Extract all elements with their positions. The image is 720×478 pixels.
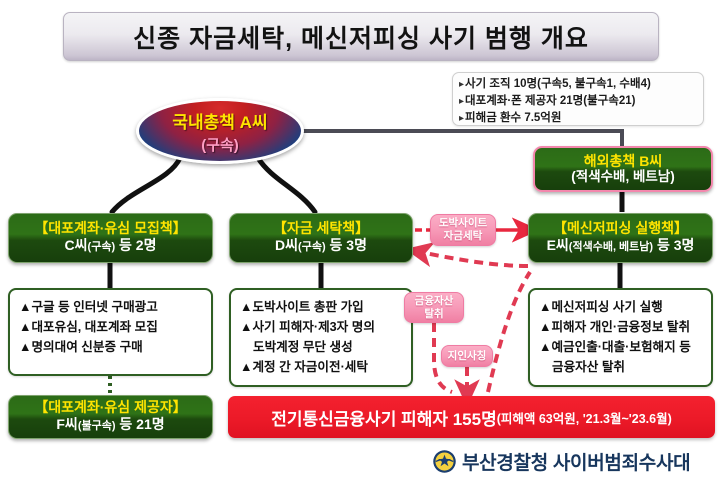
node-recruiter-c: 【대포계좌·유심 모집책】 C씨(구속) 등 2명 bbox=[8, 213, 213, 263]
detail-item-continuation: 금융자산 탈취 bbox=[539, 357, 703, 377]
node-overseas-boss-status: (적색수배, 베트남) bbox=[571, 169, 674, 185]
case-summary-box: ▸사기 조직 10명(구속5, 불구속1, 수배4) ▸대포계좌·폰 제공자 2… bbox=[452, 72, 704, 126]
node-provider-f-count: 등 21명 bbox=[116, 416, 165, 432]
victim-summary-sub: (피해액 63억원, '21.3월~'23.6월) bbox=[497, 408, 672, 427]
node-provider-f: 【대포계좌·유심 제공자】 F씨(불구속) 등 21명 bbox=[8, 395, 213, 439]
bullet-icon: ▸ bbox=[459, 79, 464, 90]
flow-label-line2: 자금세탁 bbox=[444, 230, 483, 243]
arrow-e-to-d-asset bbox=[420, 252, 528, 266]
node-launderer-d-name: D씨 bbox=[275, 237, 298, 253]
arrow-victim-curve bbox=[488, 272, 530, 392]
node-launderer-d-people: D씨(구속) 등 3명 bbox=[275, 237, 367, 256]
node-launderer-d: 【자금 세탁책】 D씨(구속) 등 3명 bbox=[229, 213, 413, 263]
node-overseas-boss-title: 해외총책 B씨 bbox=[584, 153, 662, 169]
node-overseas-boss: 해외총책 B씨 (적색수배, 베트남) bbox=[533, 146, 713, 192]
detail-item: ▲피해자 개인·금융정보 탈취 bbox=[539, 317, 703, 337]
bullet-icon: ▸ bbox=[459, 96, 464, 107]
connector-a-to-d bbox=[258, 158, 315, 212]
detail-item: ▲계정 간 자금이전·세탁 bbox=[240, 357, 403, 377]
flow-label-line1: 지인사칭 bbox=[448, 350, 487, 363]
victim-summary-main: 전기통신금융사기 피해자 155명 bbox=[271, 405, 497, 430]
node-executor-e-count: 등 3명 bbox=[653, 237, 694, 253]
node-executor-e-people: E씨(적색수배, 베트남) 등 3명 bbox=[547, 237, 695, 256]
flow-label-asset-seizure: 금융자산 탈취 bbox=[404, 292, 464, 323]
detail-item: ▲대포유심, 대포계좌 모집 bbox=[19, 317, 203, 337]
page-title-text: 신종 자금세탁, 메신저피싱 사기 범행 개요 bbox=[133, 19, 589, 55]
agency-name: 부산경찰청 사이버범죄수사대 bbox=[462, 448, 690, 475]
case-summary-text: 피해금 환수 7.5억원 bbox=[465, 112, 561, 124]
detail-item: ▲예금인출·대출·보험해지 등 bbox=[539, 337, 703, 357]
case-summary-text: 대포계좌·폰 제공자 21명(불구속21) bbox=[465, 95, 635, 107]
node-launderer-d-count: 등 3명 bbox=[326, 237, 367, 253]
node-provider-f-role: 【대포계좌·유심 제공자】 bbox=[34, 399, 186, 416]
detail-executor-e: ▲메신저피싱 사기 실행 ▲피해자 개인·금융정보 탈취 ▲예금인출·대출·보험… bbox=[528, 288, 713, 387]
case-summary-text: 사기 조직 10명(구속5, 불구속1, 수배4) bbox=[465, 78, 651, 90]
detail-item: ▲메신저피싱 사기 실행 bbox=[539, 297, 703, 317]
node-domestic-boss: 국내총책 A씨 (구속) bbox=[136, 98, 304, 164]
agency-footer: 부산경찰청 사이버범죄수사대 bbox=[432, 447, 717, 475]
flow-label-line2: 탈취 bbox=[424, 308, 443, 321]
detail-item: ▲구글 등 인터넷 구매광고 bbox=[19, 297, 203, 317]
victim-summary-bar: 전기통신금융사기 피해자 155명(피해액 63억원, '21.3월~'23.6… bbox=[228, 396, 715, 438]
detail-item: ▲명의대여 신분증 구매 bbox=[19, 337, 203, 357]
detail-recruiter-c: ▲구글 등 인터넷 구매광고 ▲대포유심, 대포계좌 모집 ▲명의대여 신분증 … bbox=[8, 288, 213, 376]
detail-item: ▲도박사이트 총판 가입 bbox=[240, 297, 403, 317]
node-launderer-d-status: (구속) bbox=[298, 241, 326, 253]
node-recruiter-c-count: 등 2명 bbox=[115, 237, 156, 253]
detail-launderer-d: ▲도박사이트 총판 가입 ▲사기 피해자·제3자 명의 도박계정 무단 생성 ▲… bbox=[229, 288, 413, 387]
connector-a-to-b bbox=[303, 131, 622, 146]
node-executor-e-name: E씨 bbox=[547, 237, 569, 253]
detail-item: ▲사기 피해자·제3자 명의 bbox=[240, 317, 403, 337]
flow-label-line1: 도박사이트 bbox=[439, 217, 487, 230]
node-provider-f-people: F씨(불구속) 등 21명 bbox=[56, 416, 164, 435]
node-launderer-d-role: 【자금 세탁책】 bbox=[273, 220, 369, 237]
node-executor-e-status: (적색수배, 베트남) bbox=[569, 241, 653, 253]
node-recruiter-c-name: C씨 bbox=[65, 237, 88, 253]
case-summary-line: ▸피해금 환수 7.5억원 bbox=[459, 110, 697, 127]
flow-label-gambling-laundering: 도박사이트 자금세탁 bbox=[430, 214, 496, 246]
node-executor-e: 【메신저피싱 실행책】 E씨(적색수배, 베트남) 등 3명 bbox=[528, 213, 713, 263]
node-provider-f-name: F씨 bbox=[56, 416, 77, 432]
node-domestic-boss-title: 국내총책 A씨 bbox=[172, 108, 267, 133]
police-emblem-icon bbox=[432, 449, 457, 474]
node-provider-f-status: (불구속) bbox=[78, 420, 116, 432]
node-recruiter-c-status: (구속) bbox=[88, 241, 116, 253]
node-recruiter-c-role: 【대포계좌·유심 모집책】 bbox=[34, 220, 186, 237]
node-executor-e-role: 【메신저피싱 실행책】 bbox=[553, 220, 688, 237]
connector-a-to-c bbox=[112, 158, 180, 212]
flow-label-impersonation: 지인사칭 bbox=[441, 345, 493, 367]
detail-item-continuation: 도박계정 무단 생성 bbox=[240, 337, 403, 357]
case-summary-line: ▸사기 조직 10명(구속5, 불구속1, 수배4) bbox=[459, 76, 697, 93]
flow-label-line1: 금융자산 bbox=[415, 295, 454, 308]
bullet-icon: ▸ bbox=[459, 113, 464, 124]
page-title: 신종 자금세탁, 메신저피싱 사기 범행 개요 bbox=[63, 12, 659, 61]
node-recruiter-c-people: C씨(구속) 등 2명 bbox=[65, 237, 157, 256]
infographic-canvas: 신종 자금세탁, 메신저피싱 사기 범행 개요 ▸사기 조직 10명(구속5, … bbox=[0, 0, 720, 478]
case-summary-line: ▸대포계좌·폰 제공자 21명(불구속21) bbox=[459, 93, 697, 110]
node-domestic-boss-status: (구속) bbox=[201, 134, 239, 155]
